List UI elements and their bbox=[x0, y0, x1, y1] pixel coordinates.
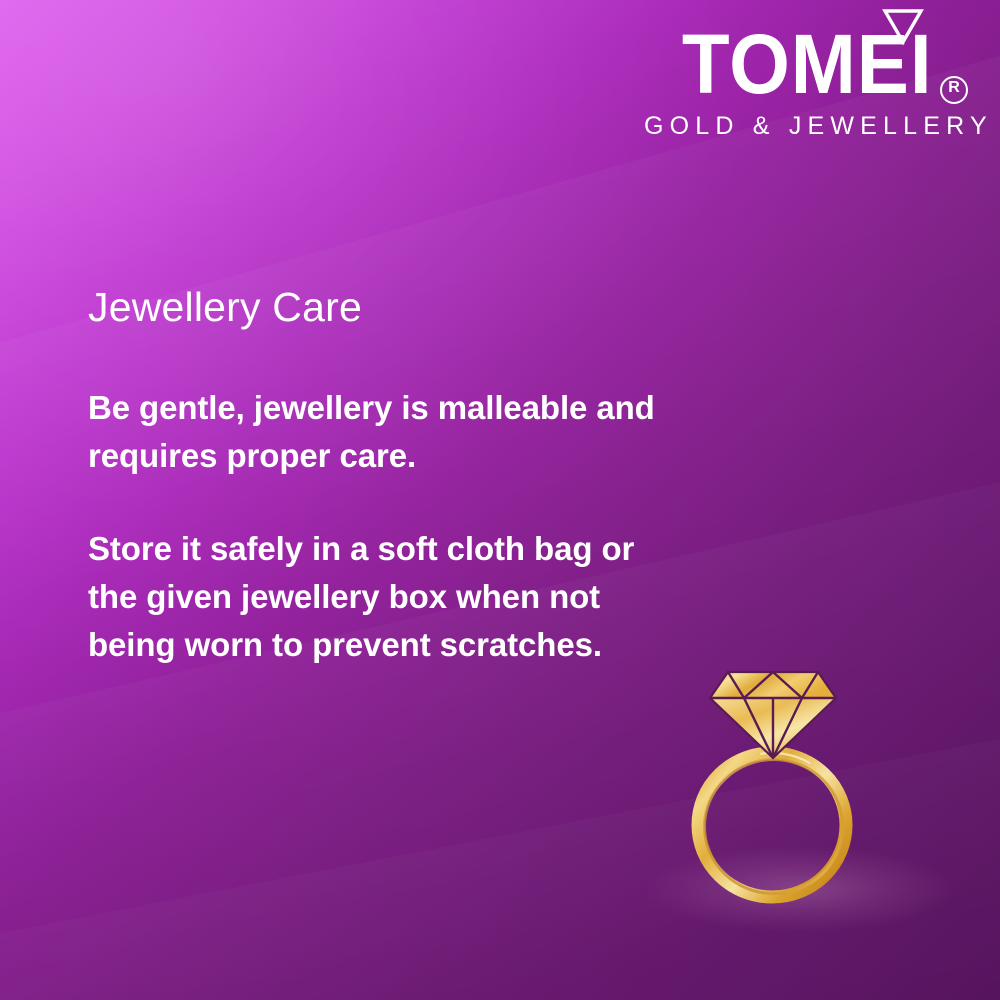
ring-band bbox=[698, 753, 846, 897]
brand-logo: TOMEI R GOLD & JEWELLERY bbox=[644, 6, 974, 141]
brand-wordmark: TOMEI bbox=[681, 28, 932, 100]
diamond-gem bbox=[710, 672, 836, 758]
copy-block: Jewellery Care Be gentle, jewellery is m… bbox=[88, 286, 688, 668]
body-paragraph-2: Store it safely in a soft cloth bag or t… bbox=[88, 525, 688, 668]
poster-canvas: TOMEI R GOLD & JEWELLERY Jewellery Care … bbox=[0, 0, 1000, 1000]
page-title: Jewellery Care bbox=[88, 286, 688, 329]
brand-wordmark-row: TOMEI R bbox=[644, 6, 974, 110]
registered-trademark-icon: R bbox=[940, 76, 968, 104]
diamond-ring-illustration bbox=[690, 640, 880, 910]
brand-tagline: GOLD & JEWELLERY bbox=[644, 112, 959, 141]
body-paragraph-1: Be gentle, jewellery is malleable and re… bbox=[88, 384, 688, 479]
